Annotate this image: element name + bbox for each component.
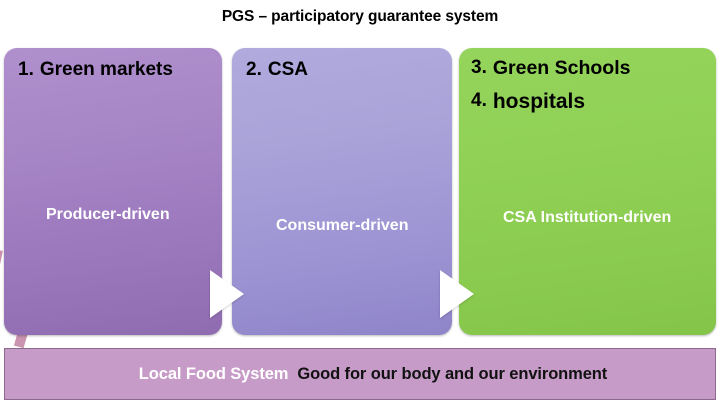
panel-3-heading-list: 3. Green Schools 4. hospitals	[471, 58, 706, 118]
list-item-number: 1.	[18, 60, 40, 81]
list-item-number: 2.	[246, 60, 268, 81]
panel-green-schools-hospitals[interactable]: 3. Green Schools 4. hospitals CSA Instit…	[459, 48, 716, 335]
list-item-number: 4.	[471, 91, 493, 112]
list-item-number: 3.	[471, 58, 493, 79]
bottom-banner: Local Food System Good for our body and …	[4, 348, 716, 400]
bottom-banner-subtitle: Good for our body and our environment	[297, 365, 607, 384]
list-item-label: Green Schools	[493, 58, 631, 79]
arrow-right-icon	[440, 270, 474, 318]
bottom-banner-title: Local Food System	[139, 365, 289, 384]
bottom-banner-content: Local Food System Good for our body and …	[139, 365, 607, 384]
list-item: 2. CSA	[246, 60, 442, 81]
list-item-label: Green markets	[40, 60, 173, 81]
list-item: 3. Green Schools	[471, 58, 706, 79]
slide-canvas: PGS – participatory guarantee system 1. …	[0, 0, 720, 405]
list-item-label: hospitals	[493, 91, 585, 114]
list-item: 4. hospitals	[471, 91, 706, 114]
panel-csa[interactable]: 2. CSA Consumer-driven	[232, 48, 452, 335]
panel-1-heading-list: 1. Green markets	[18, 60, 212, 85]
panel-green-markets[interactable]: 1. Green markets Producer-driven	[4, 48, 222, 335]
page-title: PGS – participatory guarantee system	[0, 8, 720, 26]
list-item-label: CSA	[268, 60, 308, 81]
panel-2-driver-label: Consumer-driven	[276, 216, 408, 236]
panel-shadow	[232, 48, 452, 335]
list-item: 1. Green markets	[18, 60, 212, 81]
arrow-right-icon	[210, 270, 244, 318]
panel-2-heading-list: 2. CSA	[246, 60, 442, 85]
panel-1-driver-label: Producer-driven	[46, 205, 170, 225]
decorative-ribbon-upper	[0, 249, 3, 310]
panel-shadow	[4, 48, 222, 335]
panel-3-driver-label: CSA Institution-driven	[503, 208, 671, 228]
